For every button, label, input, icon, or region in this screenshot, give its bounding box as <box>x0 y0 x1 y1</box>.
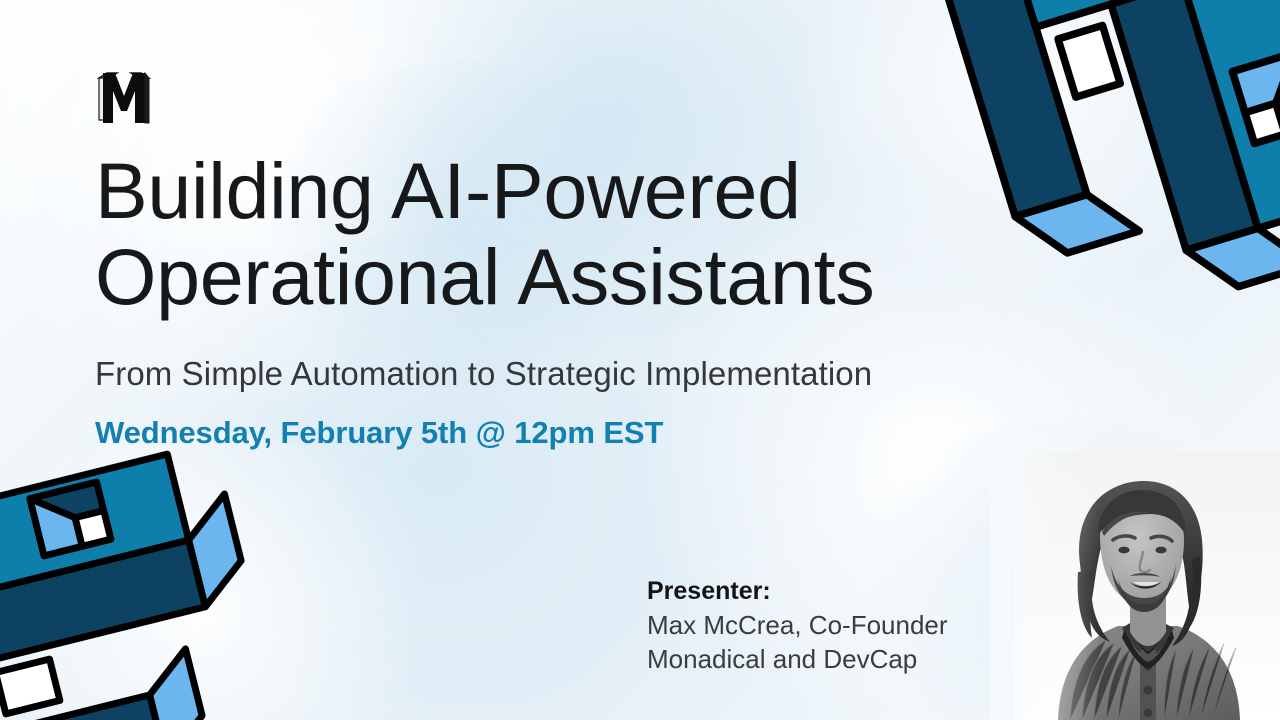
slide-content: Building AI-Powered Operational Assistan… <box>95 148 1035 452</box>
presenter-block: Presenter: Max McCrea, Co-Founder Monadi… <box>647 575 1047 676</box>
event-date: Wednesday, February 5th @ 12pm EST <box>95 414 1035 452</box>
presenter-company: Monadical and DevCap <box>647 642 1047 676</box>
presenter-name: Max McCrea, Co-Founder <box>647 608 1047 642</box>
page-title: Building AI-Powered Operational Assistan… <box>95 148 1035 320</box>
presenter-headshot <box>1014 452 1280 720</box>
webinar-promo-slide: Building AI-Powered Operational Assistan… <box>0 0 1280 720</box>
slide-subtitle: From Simple Automation to Strategic Impl… <box>95 354 1035 394</box>
monadical-m-mark-icon <box>95 70 153 126</box>
presenter-label: Presenter: <box>647 575 1047 608</box>
